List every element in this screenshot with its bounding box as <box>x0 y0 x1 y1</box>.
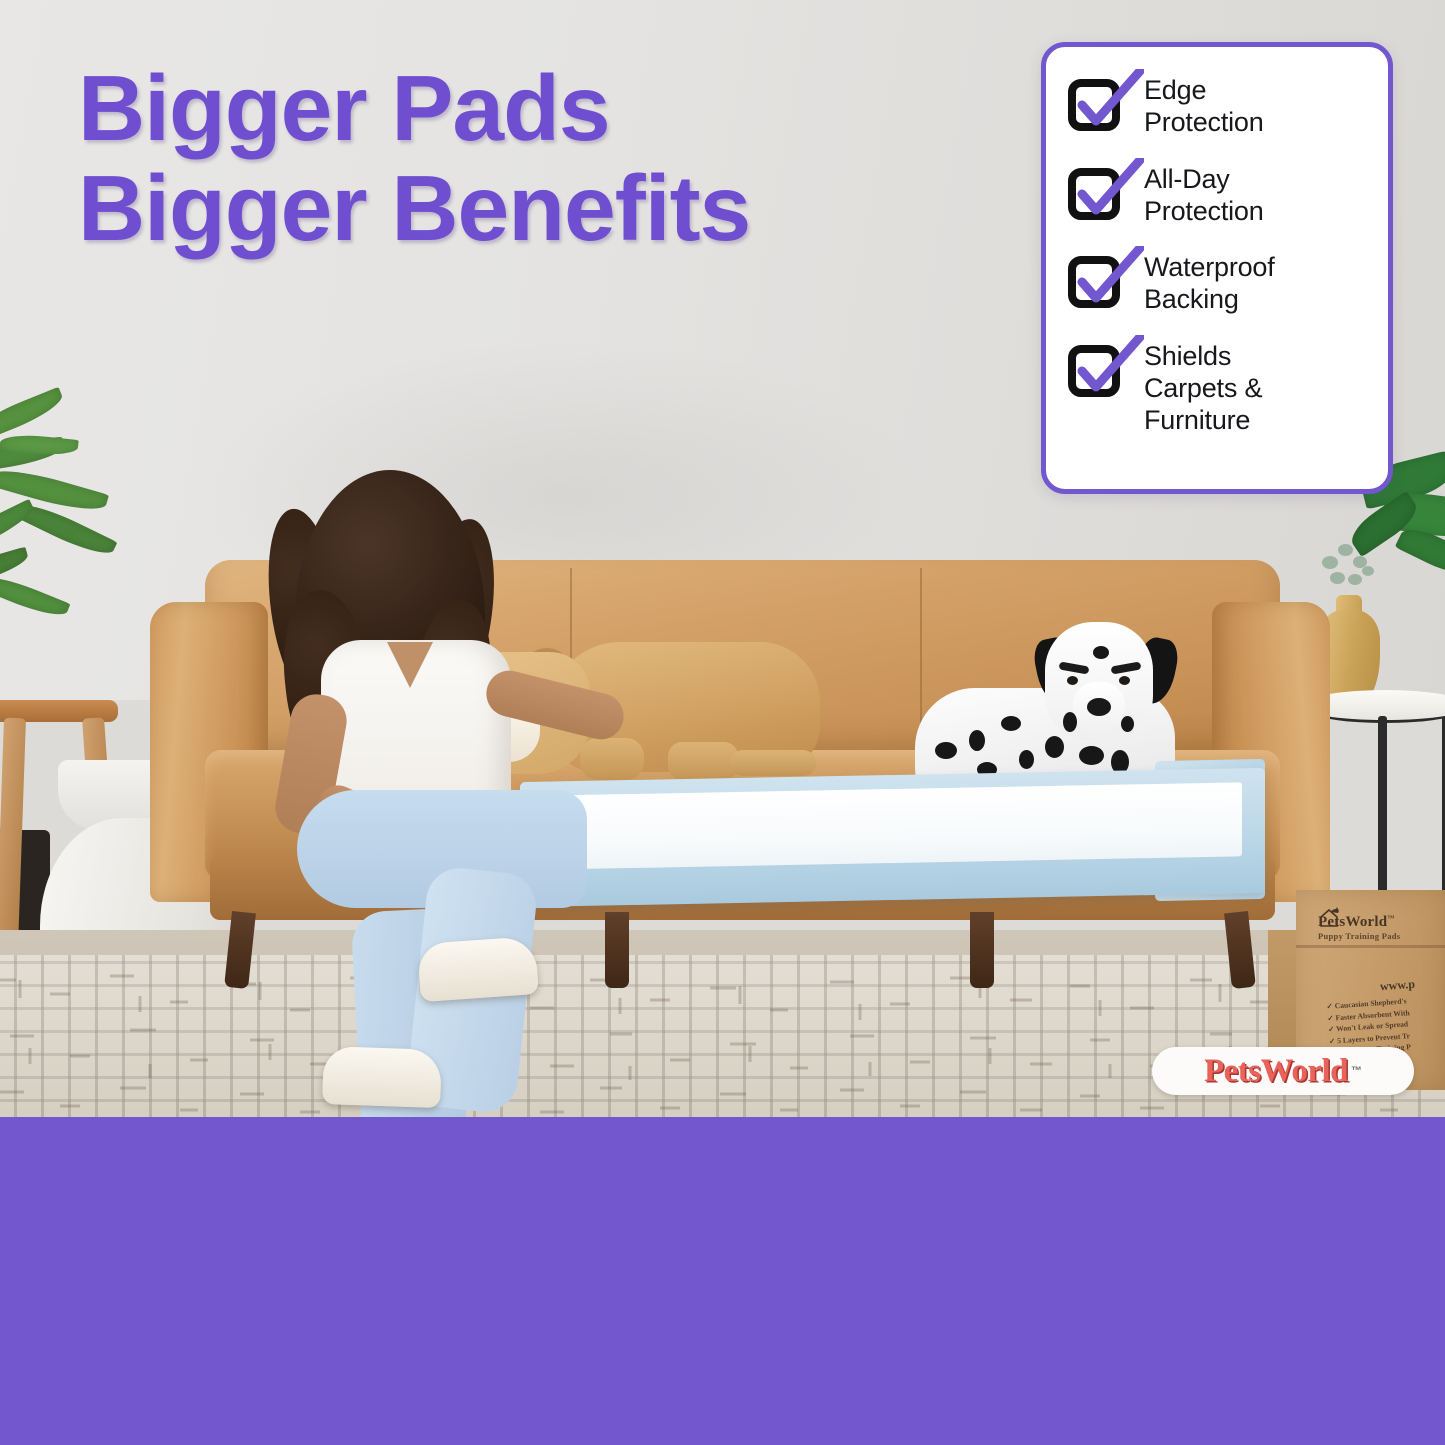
benefit-item: All-DayProtection <box>1068 162 1368 228</box>
cardboard-box-seam <box>1296 945 1445 948</box>
woman-shoe-lower <box>322 1046 442 1108</box>
headline-line-1: Bigger Pads <box>78 58 918 158</box>
box-subtitle: Puppy Training Pads <box>1318 931 1438 941</box>
headline-line-2: Bigger Benefits <box>78 158 918 258</box>
dalmatian-nose <box>1087 698 1111 716</box>
benefit-label: All-DayProtection <box>1144 162 1264 228</box>
box-url: www.p <box>1380 977 1416 994</box>
checkbox-checked-icon <box>1068 75 1128 127</box>
checkbox-checked-icon <box>1068 164 1128 216</box>
cardboard-box-branding: PetsWorld™ Puppy Training Pads <box>1318 915 1438 941</box>
checkbox-checked-icon <box>1068 341 1128 393</box>
woman-shoe-upper <box>417 936 539 1002</box>
benefit-item: ShieldsCarpets &Furniture <box>1068 339 1368 437</box>
box-brand-text: PetsWorld <box>1318 914 1387 930</box>
woman <box>235 470 655 1118</box>
benefit-item: EdgeProtection <box>1068 73 1368 139</box>
product-infographic: PetsWorld™ Puppy Training Pads www.p ✓ C… <box>0 0 1445 1445</box>
logo-text: PetsWorld <box>1204 1053 1348 1090</box>
benefit-label: EdgeProtection <box>1144 73 1264 139</box>
petsworld-logo: PetsWorld ™ <box>1152 1047 1414 1095</box>
benefits-card: EdgeProtection All-DayProtection Waterpr… <box>1041 42 1393 494</box>
bottom-banner: More Coverage Fewer Replacements <box>0 1117 1445 1445</box>
page-title: Bigger Pads Bigger Benefits <box>78 58 918 259</box>
box-brand-tm: ™ <box>1387 914 1394 922</box>
benefit-label: ShieldsCarpets &Furniture <box>1144 339 1262 437</box>
checkbox-checked-icon <box>1068 252 1128 304</box>
benefit-item: WaterproofBacking <box>1068 250 1368 316</box>
benefit-label: WaterproofBacking <box>1144 250 1275 316</box>
logo-trademark: ™ <box>1351 1065 1362 1077</box>
